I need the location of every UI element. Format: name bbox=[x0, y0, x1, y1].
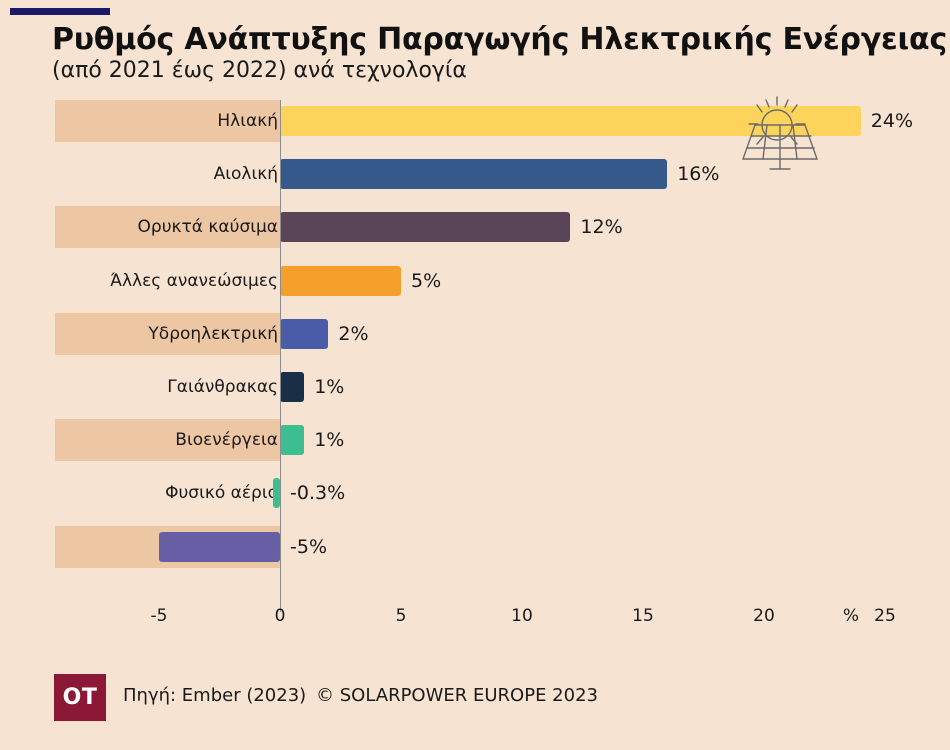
x-tick-label: 5 bbox=[396, 606, 407, 626]
category-label: Φυσικό αέριο bbox=[165, 478, 278, 508]
chart-row: Υδροηλεκτρική2% bbox=[0, 319, 950, 372]
bar-value-label: -5% bbox=[290, 532, 327, 562]
category-label: Ηλιακή bbox=[217, 106, 278, 136]
page-subtitle: (από 2021 έως 2022) ανά τεχνολογία bbox=[52, 58, 942, 83]
x-tick-label: 25 bbox=[874, 606, 896, 626]
x-tick-label: 15 bbox=[632, 606, 654, 626]
bar-value-label: -0.3% bbox=[290, 478, 345, 508]
chart-plot-area: Ηλιακή24%Αιολική16%Ορυκτά καύσιμα12%Άλλε… bbox=[0, 100, 950, 600]
chart-row: Άλλες ανανεώσιμες5% bbox=[0, 266, 950, 319]
category-label: Βιοενέργεια bbox=[175, 425, 278, 455]
x-axis: -50510152025 % bbox=[0, 600, 950, 640]
bar bbox=[280, 159, 667, 189]
footer: OT Πηγή: Ember (2023) © SOLARPOWER EUROP… bbox=[0, 665, 950, 735]
bar-value-label: 24% bbox=[871, 106, 913, 136]
category-label: Γαιάνθρακας bbox=[167, 372, 278, 402]
x-tick-label: 0 bbox=[275, 606, 286, 626]
bar-value-label: 1% bbox=[314, 425, 344, 455]
top-accent-bar bbox=[10, 8, 110, 15]
x-axis-unit-label: % bbox=[843, 606, 859, 626]
x-tick-label: -5 bbox=[151, 606, 168, 626]
category-label: Άλλες ανανεώσιμες bbox=[110, 266, 278, 296]
bar-value-label: 1% bbox=[314, 372, 344, 402]
ot-logo: OT bbox=[54, 674, 106, 721]
bar bbox=[273, 478, 280, 508]
bar-value-label: 16% bbox=[677, 159, 719, 189]
bar bbox=[280, 425, 304, 455]
x-tick-label: 20 bbox=[753, 606, 775, 626]
bar bbox=[280, 266, 401, 296]
bar-value-label: 12% bbox=[580, 212, 622, 242]
page-title: Ρυθμός Ανάπτυξης Παραγωγής Ηλεκτρικής Εν… bbox=[52, 22, 942, 57]
bar bbox=[280, 212, 570, 242]
zero-axis-line bbox=[280, 100, 281, 612]
category-label: Υδροηλεκτρική bbox=[148, 319, 278, 349]
category-label: Ορυκτά καύσιμα bbox=[138, 212, 278, 242]
bar-value-label: 5% bbox=[411, 266, 441, 296]
bar-value-label: 2% bbox=[338, 319, 368, 349]
bar bbox=[280, 319, 328, 349]
copyright-text: © SOLARPOWER EUROPE 2023 bbox=[316, 685, 598, 706]
source-text: Πηγή: Ember (2023) bbox=[123, 685, 306, 706]
chart-row: Βιοενέργεια1% bbox=[0, 425, 950, 478]
chart-row: Φυσικό αέριο-0.3% bbox=[0, 478, 950, 531]
chart-row: Γαιάνθρακας1% bbox=[0, 372, 950, 425]
x-tick-label: 10 bbox=[511, 606, 533, 626]
category-label: Αιολική bbox=[214, 159, 278, 189]
bar bbox=[280, 372, 304, 402]
chart-row: Ορυκτά καύσιμα12% bbox=[0, 212, 950, 265]
chart-row: Πυρηνική-5% bbox=[0, 532, 950, 585]
bar bbox=[159, 532, 280, 562]
solar-panel-sun-icon bbox=[722, 91, 832, 173]
